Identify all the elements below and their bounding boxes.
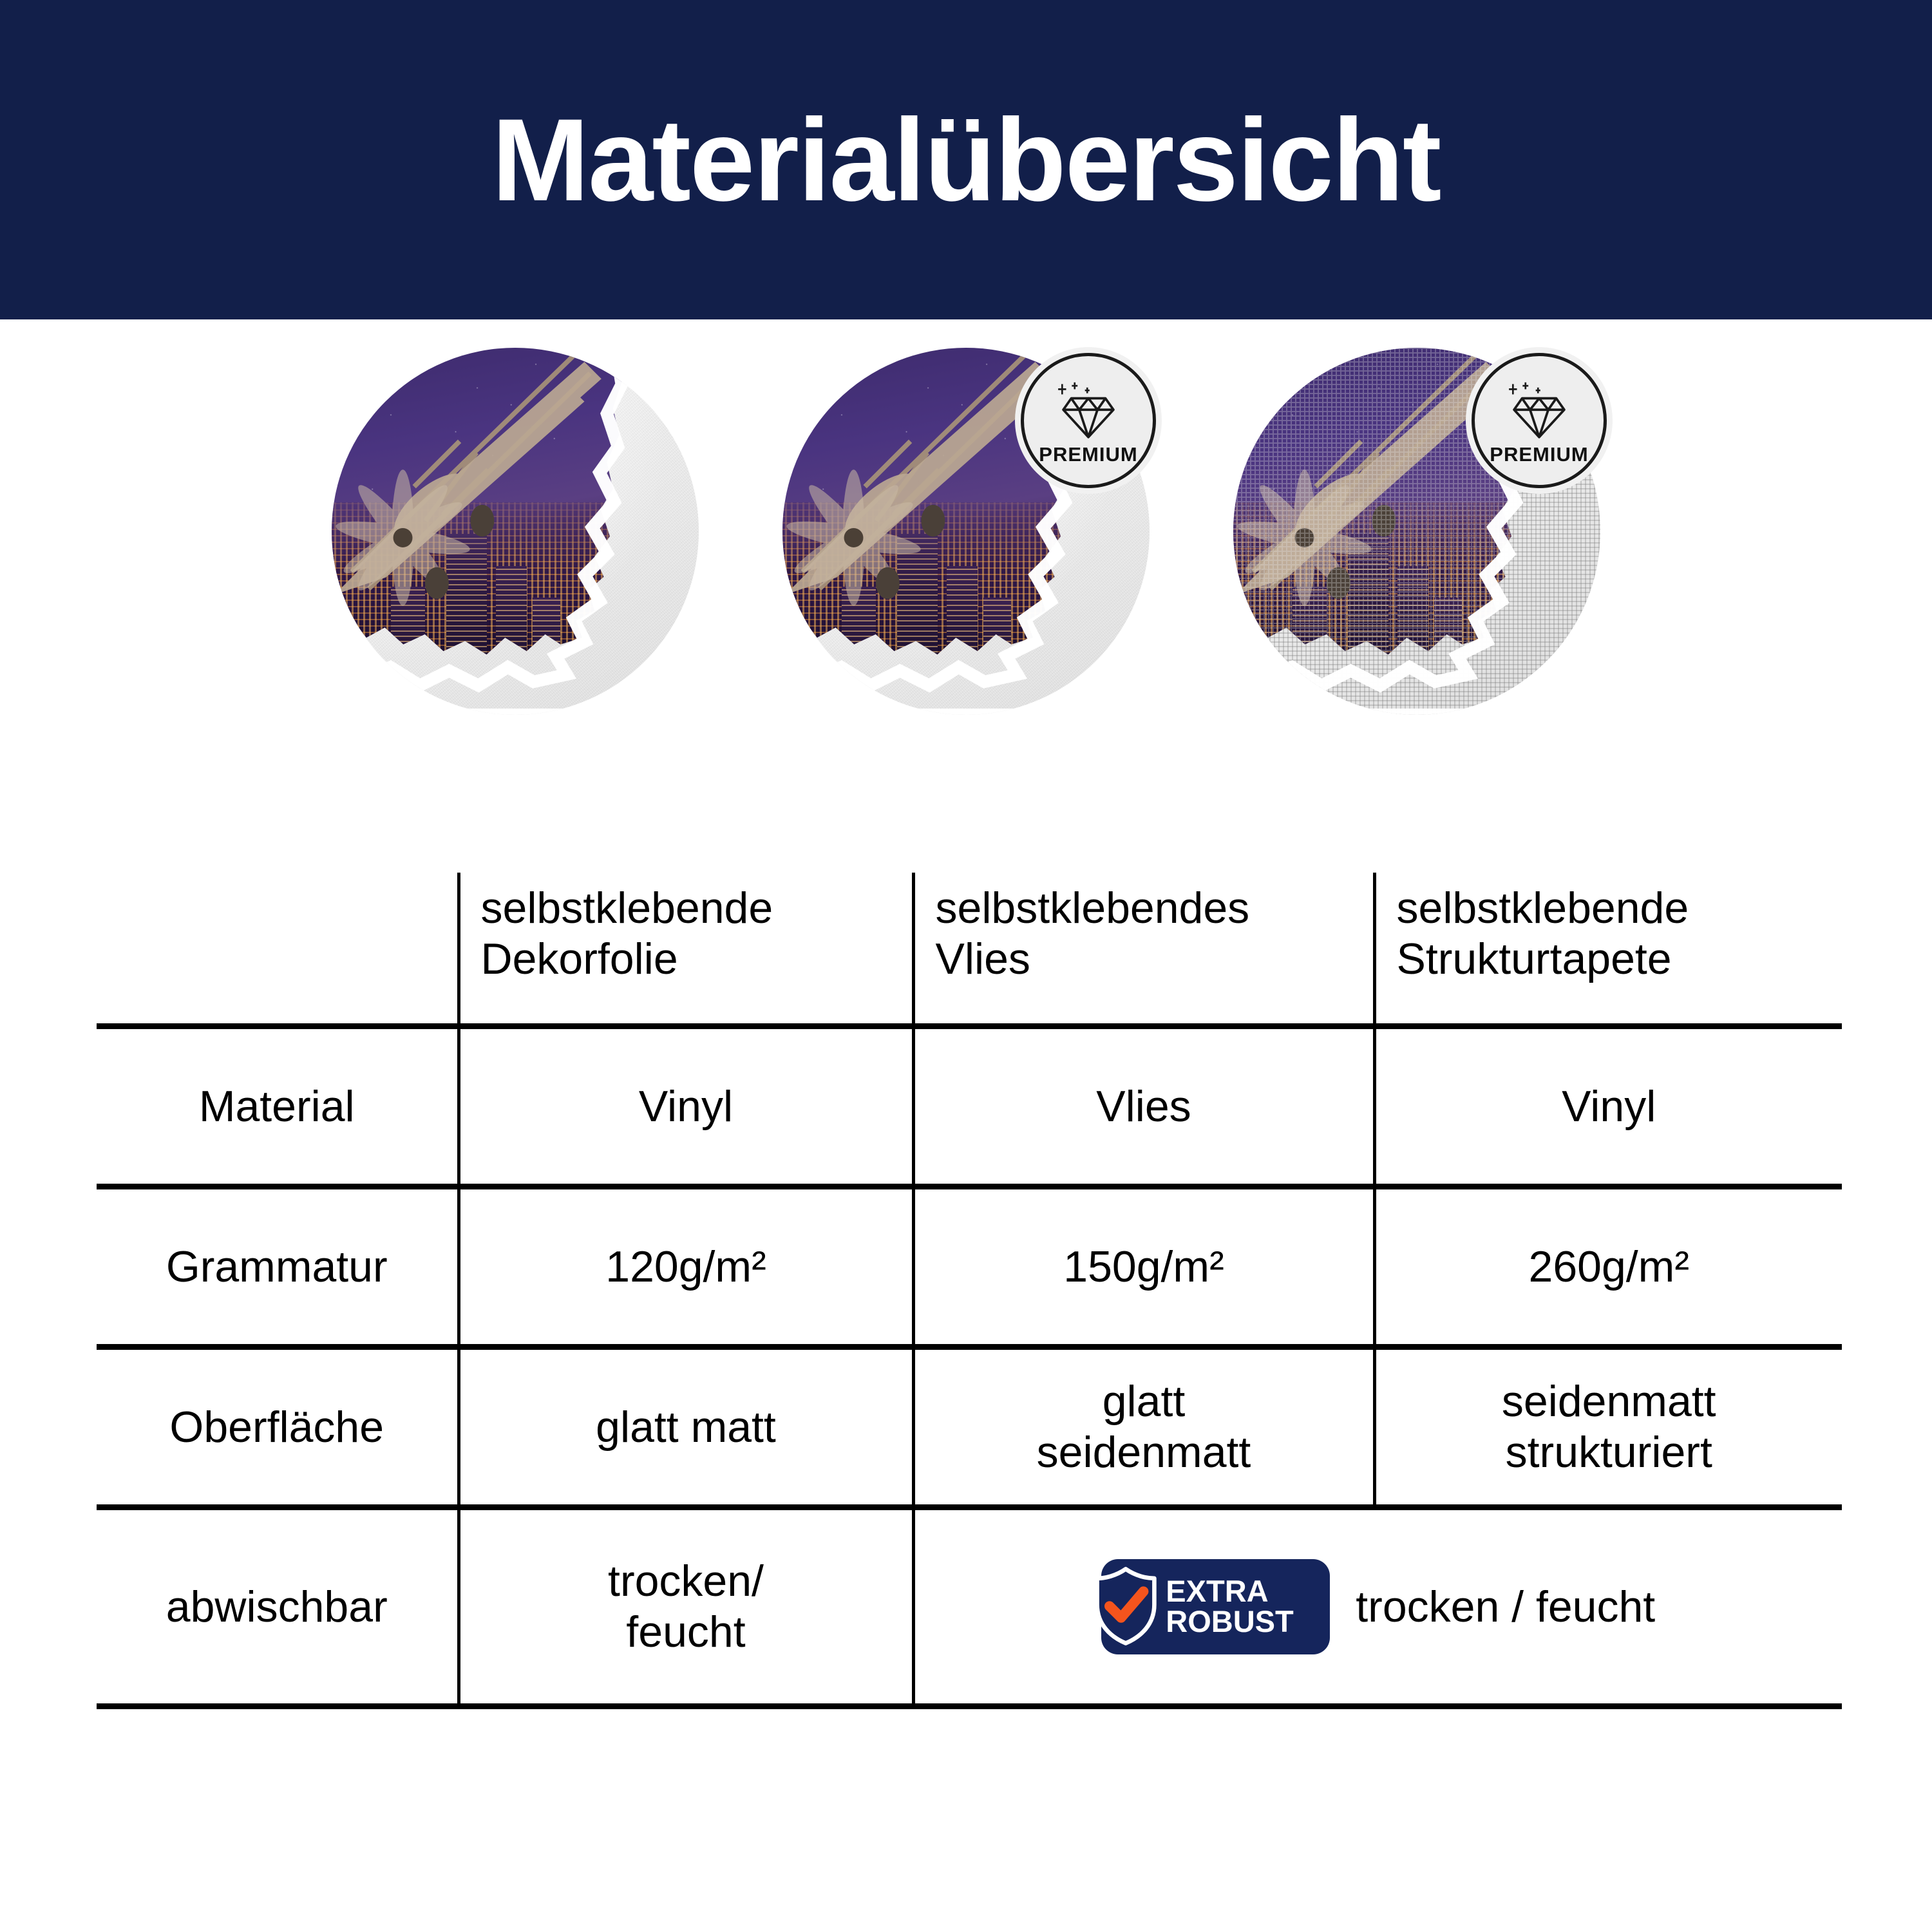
table-row-material: Material Vinyl Vlies Vinyl <box>97 1029 1842 1184</box>
diamond-icon <box>1054 381 1123 440</box>
biplane-icon <box>332 348 613 638</box>
cell-abwischbar-merged: EXTRA ROBUST trocken / feucht <box>913 1510 1842 1703</box>
shield-check-icon <box>1091 1566 1160 1647</box>
rule-segment <box>913 1504 1374 1510</box>
cell-abwischbar-dekorfolie: trocken/ feucht <box>459 1510 913 1703</box>
robust-badge-line1: EXTRA <box>1166 1577 1293 1607</box>
rule-segment <box>97 1344 459 1350</box>
product-swatch-row: PREMIUM <box>0 348 1932 734</box>
cell-oberflaeche-strukturtapete: seidenmatt strukturiert <box>1374 1350 1842 1504</box>
cell-material-vlies: Vlies <box>913 1029 1374 1184</box>
table-rule <box>97 1023 1842 1029</box>
rule-segment <box>97 1023 459 1029</box>
cell-grammatur-dekorfolie: 120g/m² <box>459 1189 913 1344</box>
material-spec-table: selbstklebende Dekorfolie selbstklebende… <box>97 873 1842 1709</box>
product-swatch-vlies[interactable]: PREMIUM <box>782 348 1150 715</box>
table-rule <box>97 1344 1842 1350</box>
page-header: Materialübersicht <box>0 0 1932 319</box>
row-label-oberflaeche: Oberfläche <box>97 1350 459 1504</box>
table-rule <box>97 1504 1842 1510</box>
cell-abwischbar-merged-value: trocken / feucht <box>1356 1582 1655 1633</box>
header-cell-vlies: selbstklebendes Vlies <box>913 873 1374 1023</box>
premium-badge-label: PREMIUM <box>1039 444 1137 464</box>
rule-segment <box>913 1703 1374 1709</box>
table-rule-bottom <box>97 1703 1842 1709</box>
rule-segment <box>97 1184 459 1189</box>
row-label-grammatur: Grammatur <box>97 1189 459 1344</box>
row-label-abwischbar: abwischbar <box>97 1510 459 1703</box>
rule-segment <box>1374 1184 1842 1189</box>
table-rule <box>97 1184 1842 1189</box>
extra-robust-badge: EXTRA ROBUST <box>1101 1559 1330 1654</box>
rule-segment <box>1374 1023 1842 1029</box>
row-label-material: Material <box>97 1029 459 1184</box>
cell-material-dekorfolie: Vinyl <box>459 1029 913 1184</box>
cell-oberflaeche-vlies: glatt seidenmatt <box>913 1350 1374 1504</box>
table-row-grammatur: Grammatur 120g/m² 150g/m² 260g/m² <box>97 1189 1842 1344</box>
rule-segment <box>913 1184 1374 1189</box>
page-title: Materialübersicht <box>491 101 1440 218</box>
cell-material-strukturtapete: Vinyl <box>1374 1029 1842 1184</box>
robust-badge-line2: ROBUST <box>1166 1607 1293 1637</box>
product-swatch-strukturtapete[interactable]: PREMIUM <box>1233 348 1600 715</box>
cell-grammatur-vlies: 150g/m² <box>913 1189 1374 1344</box>
rule-segment <box>459 1504 913 1510</box>
premium-badge-label: PREMIUM <box>1490 444 1588 464</box>
wall-swatch-circle <box>332 348 699 715</box>
rule-segment <box>459 1703 913 1709</box>
table-row-abwischbar: abwischbar trocken/ feucht EXTRA ROBUST <box>97 1510 1842 1703</box>
diamond-icon <box>1504 381 1574 440</box>
cell-grammatur-strukturtapete: 260g/m² <box>1374 1189 1842 1344</box>
rule-segment <box>1374 1703 1842 1709</box>
rule-segment <box>97 1703 459 1709</box>
header-cell-dekorfolie: selbstklebende Dekorfolie <box>459 873 913 1023</box>
biplane-icon <box>782 348 1064 638</box>
product-swatch-dekorfolie[interactable] <box>332 348 699 715</box>
rule-segment <box>459 1344 913 1350</box>
table-header-row: selbstklebende Dekorfolie selbstklebende… <box>97 873 1842 1023</box>
table-row-oberflaeche: Oberfläche glatt matt glatt seidenmatt s… <box>97 1350 1842 1504</box>
rule-segment <box>97 1504 459 1510</box>
rule-segment <box>913 1023 1374 1029</box>
rule-segment <box>459 1023 913 1029</box>
rule-segment <box>1374 1344 1842 1350</box>
premium-badge: PREMIUM <box>1472 353 1607 488</box>
header-cell-strukturtapete: selbstklebende Strukturtapete <box>1374 873 1842 1023</box>
rule-segment <box>459 1184 913 1189</box>
premium-badge: PREMIUM <box>1021 353 1156 488</box>
rule-segment <box>1374 1504 1842 1510</box>
cell-oberflaeche-dekorfolie: glatt matt <box>459 1350 913 1504</box>
rule-segment <box>913 1344 1374 1350</box>
header-cell-empty <box>97 873 459 1023</box>
